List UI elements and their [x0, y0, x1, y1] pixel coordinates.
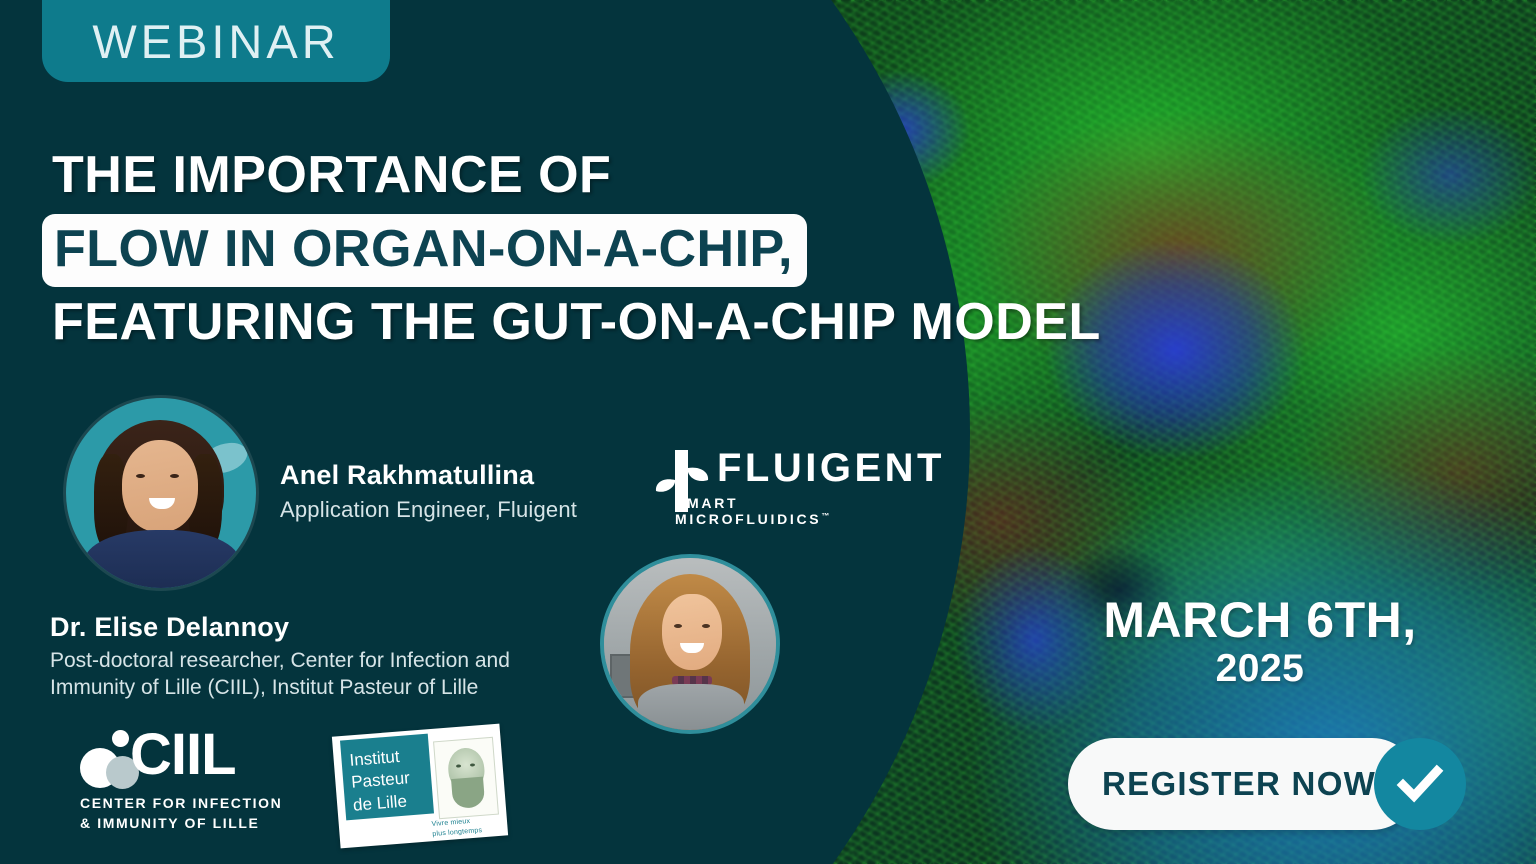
fluigent-logo: FLUIGENT SMART MICROFLUIDICS™ — [655, 448, 895, 527]
avatar-torso — [84, 530, 240, 588]
pasteur-teal-block: Institut Pasteur de Lille — [340, 734, 434, 821]
speaker-1-info: Anel Rakhmatullina Application Engineer,… — [280, 460, 577, 523]
speaker-1-role: Application Engineer, Fluigent — [280, 497, 577, 523]
register-now-button[interactable]: REGISTER NOW — [1068, 738, 1466, 830]
speaker-2-name: Dr. Elise Delannoy — [50, 612, 590, 643]
fluigent-trademark: ™ — [821, 511, 832, 520]
pasteur-name: Institut Pasteur de Lille — [349, 745, 413, 817]
ciil-logo: CIIL CENTER FOR INFECTION & IMMUNITY OF … — [80, 730, 320, 833]
title-line-2-highlighted: FLOW IN ORGAN-ON-A-CHIP, — [42, 214, 807, 286]
title-line-3: FEATURING THE GUT-ON-A-CHIP MODEL — [52, 292, 1282, 352]
pasteur-portrait-icon — [433, 737, 499, 819]
event-date-line-2: 2025 — [1050, 647, 1470, 692]
ciil-circle-small — [112, 730, 129, 747]
register-button-label: REGISTER NOW — [1102, 765, 1376, 803]
avatar-eye-right — [170, 474, 179, 478]
speaker-2-avatar — [604, 558, 776, 730]
fluigent-wordmark: FLUIGENT — [717, 448, 895, 488]
title-line-1: THE IMPORTANCE OF — [52, 145, 1282, 205]
check-icon — [1392, 756, 1448, 812]
speaker-1-name: Anel Rakhmatullina — [280, 460, 577, 491]
event-date-line-1: MARCH 6TH, — [1050, 594, 1470, 647]
avatar-eye-left — [136, 474, 145, 478]
check-icon-circle[interactable] — [1374, 738, 1466, 830]
avatar-face — [662, 594, 722, 670]
ciil-subtitle-line-2: & IMMUNITY OF LILLE — [80, 814, 320, 834]
ciil-subtitle: CENTER FOR INFECTION & IMMUNITY OF LILLE — [80, 794, 320, 833]
ciil-subtitle-line-1: CENTER FOR INFECTION — [80, 794, 320, 814]
ciil-mark: CIIL — [80, 730, 320, 788]
speaker-2-role: Post-doctoral researcher, Center for Inf… — [50, 648, 590, 702]
pasteur-motto: Vivre mieux plus longtemps — [431, 816, 482, 840]
speaker-2-info: Dr. Elise Delannoy Post-doctoral researc… — [50, 612, 590, 702]
avatar-eye-right — [702, 624, 710, 628]
pasteur-line-3: de Lille — [352, 790, 412, 817]
webinar-badge-label: WEBINAR — [92, 14, 339, 69]
page-title: THE IMPORTANCE OF FLOW IN ORGAN-ON-A-CHI… — [52, 145, 1282, 352]
webinar-badge: WEBINAR — [42, 0, 390, 82]
portrait-beard — [451, 777, 485, 809]
avatar-eye-left — [674, 624, 682, 628]
event-date: MARCH 6TH, 2025 — [1050, 594, 1470, 691]
avatar-torso — [638, 684, 744, 730]
speaker-1-avatar — [66, 398, 256, 588]
institut-pasteur-de-lille-logo: Institut Pasteur de Lille Vivre mieux pl… — [336, 730, 504, 842]
ciil-wordmark: CIIL — [130, 726, 236, 784]
register-button-pill[interactable]: REGISTER NOW — [1068, 738, 1418, 830]
avatar-face — [122, 440, 198, 532]
fluigent-leaf-icon — [655, 450, 709, 512]
